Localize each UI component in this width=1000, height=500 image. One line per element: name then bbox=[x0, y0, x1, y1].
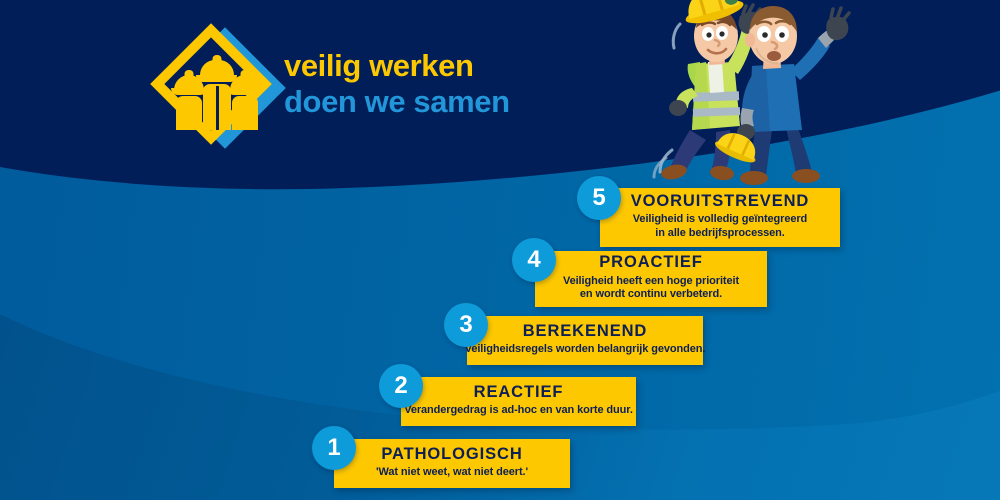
step-1-number-badge: 1 bbox=[312, 426, 356, 470]
step-1-title: PATHOLOGISCH bbox=[381, 446, 522, 463]
step-4-description: Veiligheid heeft een hoge prioriteit en … bbox=[563, 275, 739, 302]
step-4-bar: PROACTIEF Veiligheid heeft een hoge prio… bbox=[535, 251, 767, 307]
step-2-bar: REACTIEF Verandergedrag is ad-hoc en van… bbox=[401, 377, 636, 426]
step-2-description: Verandergedrag is ad-hoc en van korte du… bbox=[404, 404, 633, 417]
step-2-title: REACTIEF bbox=[474, 384, 564, 401]
step-1-description: 'Wat niet weet, wat niet deert.' bbox=[376, 466, 528, 479]
step-5-bar: VOORUITSTREVEND Veiligheid is volledig g… bbox=[600, 188, 840, 247]
step-4-number-badge: 4 bbox=[512, 238, 556, 282]
step-5-number-badge: 5 bbox=[577, 176, 621, 220]
step-5-title: VOORUITSTREVEND bbox=[631, 193, 810, 210]
safety-culture-ladder: 5 VOORUITSTREVEND Veiligheid is volledig… bbox=[0, 0, 1000, 500]
step-1-bar: PATHOLOGISCH 'Wat niet weet, wat niet de… bbox=[334, 439, 570, 488]
step-3-description: Veiligheidsregels worden belangrijk gevo… bbox=[465, 343, 706, 356]
step-2-number-badge: 2 bbox=[379, 364, 423, 408]
step-3-number-badge: 3 bbox=[444, 303, 488, 347]
step-3-bar: BEREKENEND Veiligheidsregels worden bela… bbox=[467, 316, 703, 365]
infographic-poster: veilig werken doen we samen bbox=[0, 0, 1000, 500]
step-4-title: PROACTIEF bbox=[599, 254, 702, 271]
step-3-title: BEREKENEND bbox=[523, 323, 648, 340]
step-5-description: Veiligheid is volledig geïntegreerd in a… bbox=[633, 213, 807, 240]
